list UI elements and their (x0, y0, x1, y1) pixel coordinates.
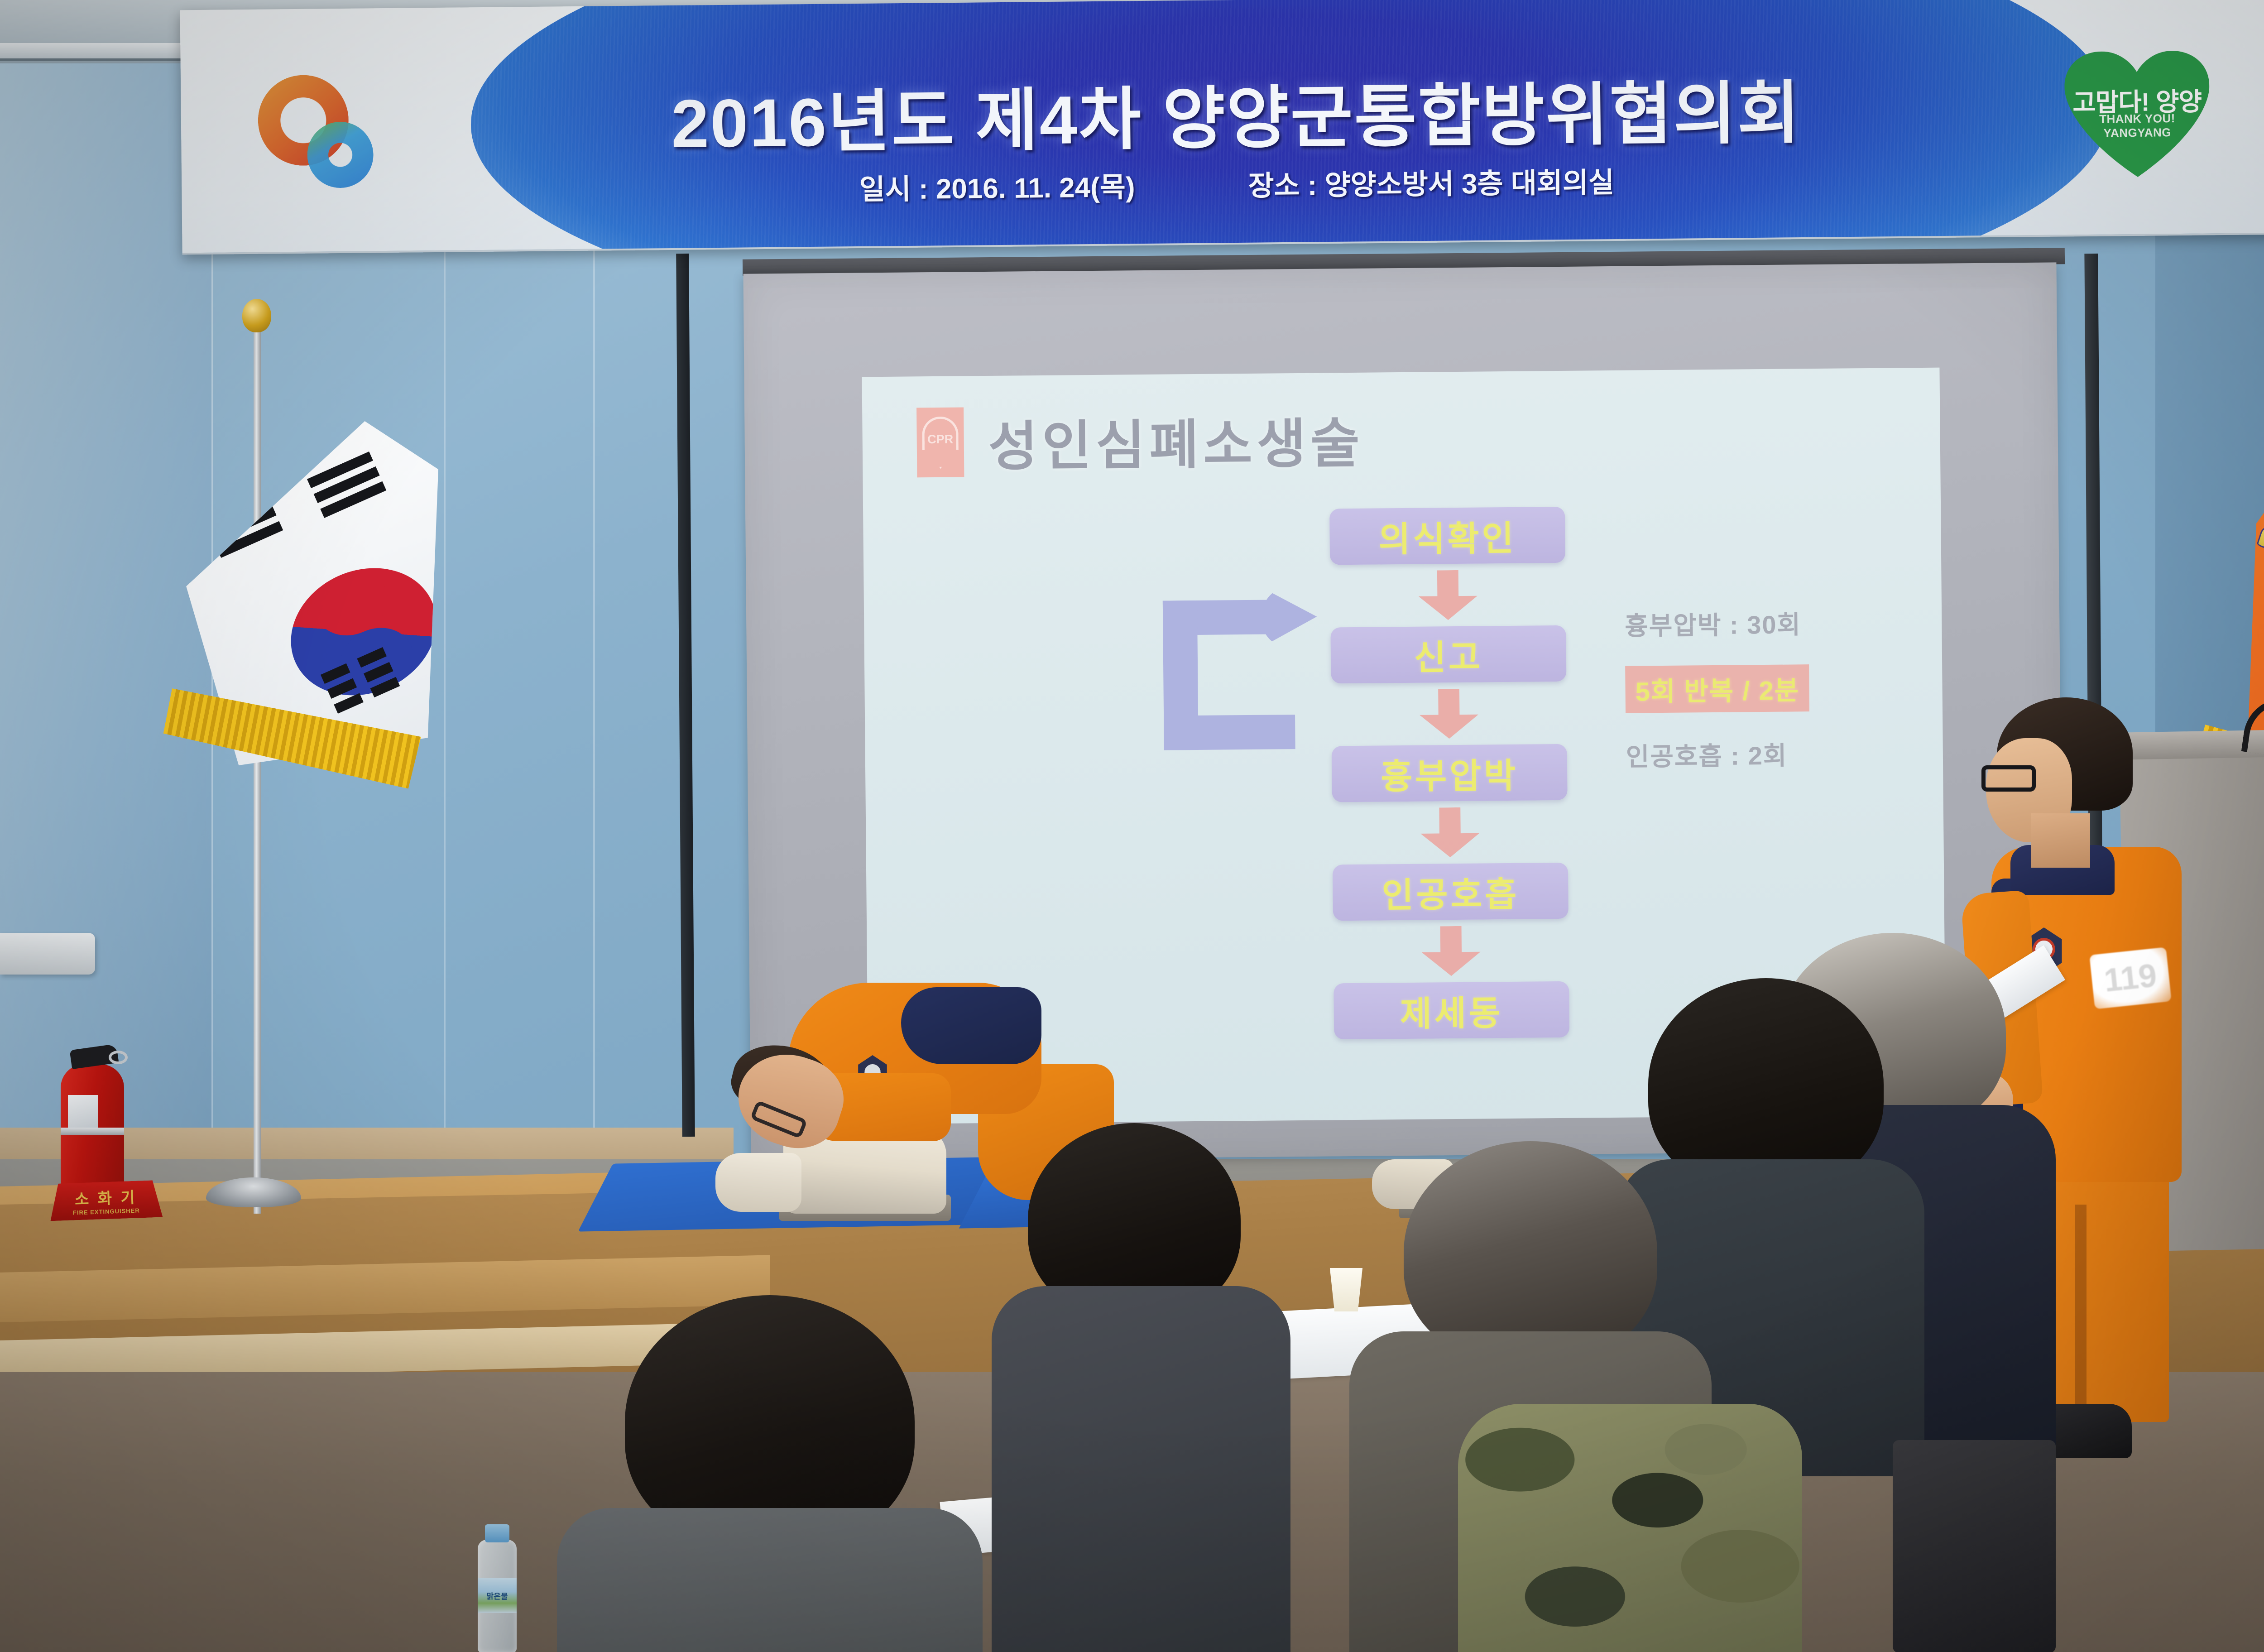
audience-member (992, 1123, 1290, 1652)
wall-fixture (0, 933, 95, 975)
slide-header: CPR 성인심폐소생술 (916, 400, 1364, 481)
thank-you-yangyang-logo: 고맙다! 양양 THANK YOU! YANGYANG (2064, 45, 2215, 182)
water-bottle: 맑은물 (478, 1540, 517, 1652)
event-banner: 2016년도 제4차 양양군통합방위협의회 일시 : 2016. 11. 24(… (180, 0, 2264, 255)
flow-step-4: 인공호흡 (1333, 863, 1568, 921)
flow-step-1: 의식확인 (1329, 507, 1565, 565)
extinguisher-band (61, 1128, 124, 1135)
extinguisher-pin-icon (109, 1051, 128, 1064)
down-arrow-icon (1420, 807, 1480, 858)
cpr-badge-label: CPR (927, 432, 953, 447)
extinguisher-sign-korean: 소 화 기 (74, 1185, 137, 1210)
note-compressions: 흉부압박 : 30회 (1625, 603, 1915, 643)
flag-finial-icon (242, 299, 271, 332)
chair-back (1893, 1440, 2056, 1652)
bottle-label: 맑은물 (478, 1578, 517, 1613)
banner-date: 일시 : 2016. 11. 24(목) (859, 164, 1135, 207)
taeguk-icon (270, 546, 456, 718)
note-breaths: 인공호흡 : 2회 (1626, 734, 1916, 773)
flow-step-3: 흉부압박 (1332, 744, 1568, 802)
conference-room-photo: CPR 성인심폐소생술 의식확인 신고 흉부압박 인공호흡 제세동 흉부압박 (0, 0, 2264, 1652)
cpr-flowchart: 의식확인 신고 흉부압박 인공호흡 제세동 (1329, 507, 1569, 1039)
note-cycle-highlight: 5회 반복 / 2분 (1625, 664, 1809, 713)
military-camouflage-uniform (1458, 1404, 1802, 1652)
reflective-119-marking: 119 (2089, 947, 2172, 1009)
heart-logo-english: THANK YOU! YANGYANG (2065, 111, 2210, 140)
glasses-icon (1981, 765, 2036, 792)
down-arrow-icon (1418, 570, 1477, 620)
slide-title: 성인심폐소생술 (988, 400, 1364, 480)
flow-step-2: 신고 (1330, 625, 1566, 684)
audience-member (557, 1295, 983, 1652)
fire-extinguisher-sign: 소 화 기 FIRE EXTINGUISHER (49, 1180, 163, 1221)
left-wall-panel (0, 63, 213, 1205)
flow-step-5: 제세동 (1333, 981, 1569, 1040)
bottle-cap (485, 1524, 509, 1542)
korean-flagpole (254, 317, 261, 1214)
banner-title: 2016년도 제4차 양양군통합방위협의회 (181, 53, 2264, 172)
cpr-heart-icon: CPR (916, 407, 964, 477)
fire-extinguisher: 소 화 기 FIRE EXTINGUISHER (50, 1037, 136, 1200)
cpr-notes: 흉부압박 : 30회 5회 반복 / 2분 인공호흡 : 2회 (1625, 603, 1916, 797)
banner-place: 장소 : 양양소방서 3층 대회의실 (1248, 159, 1614, 204)
down-arrow-icon (1420, 689, 1479, 739)
extinguisher-label (68, 1095, 98, 1129)
down-arrow-icon (1421, 926, 1481, 976)
loop-back-arrow-icon (1163, 600, 1318, 750)
